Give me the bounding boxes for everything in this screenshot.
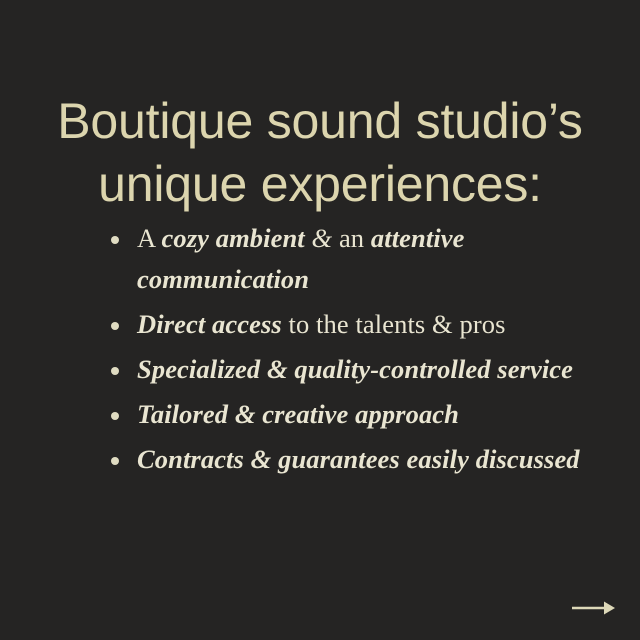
list-item-text: Direct access to the talents & pros (137, 309, 506, 339)
list-item-text: Contracts & guarantees easily discussed (137, 444, 580, 474)
text-run: & (305, 223, 339, 253)
page-title: Boutique sound studio’s unique experienc… (0, 90, 640, 216)
text-run: A (137, 223, 162, 253)
list-item: Tailored & creative approach (104, 394, 604, 435)
bullet-dot-icon (111, 367, 119, 375)
list-item: Contracts & guarantees easily discussed (104, 439, 604, 480)
list-item: A cozy ambient & an attentive communicat… (104, 218, 604, 300)
text-run: an (339, 223, 371, 253)
bullet-dot-icon (111, 457, 119, 465)
bullet-dot-icon (111, 236, 119, 244)
list-item: Direct access to the talents & pros (104, 304, 604, 345)
text-run: to the talents & pros (282, 309, 506, 339)
bullet-dot-icon (111, 412, 119, 420)
text-run: cozy ambient (162, 223, 305, 253)
list-item-text: A cozy ambient & an attentive communicat… (137, 223, 465, 294)
arrow-right-icon[interactable] (571, 598, 617, 618)
list-item-text: Tailored & creative approach (137, 399, 459, 429)
text-run: Direct access (137, 309, 282, 339)
slide-canvas: Boutique sound studio’s unique experienc… (0, 0, 640, 640)
list-item: Specialized & quality-controlled service (104, 349, 604, 390)
benefits-list: A cozy ambient & an attentive communicat… (104, 218, 604, 484)
list-item-text: Specialized & quality-controlled service (137, 354, 573, 384)
bullet-dot-icon (111, 322, 119, 330)
